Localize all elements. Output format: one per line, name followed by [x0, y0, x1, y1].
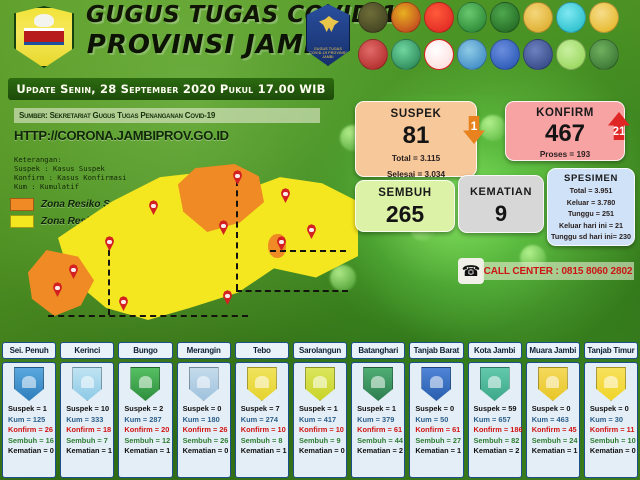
district-crest-icon [72, 367, 102, 401]
district-name: Kerinci [74, 346, 100, 355]
pengadilan-logo-icon [490, 2, 520, 33]
stat-card-suspek: SUSPEK 81 Total = 3.115 Selesai = 3.034 [355, 101, 477, 177]
district-kematian: Kematian = 1 [124, 446, 171, 457]
district-card-kota-jambi[interactable]: Kota Jambi Suspek = 59 Kum = 657 Konfirm… [466, 340, 524, 480]
district-stats: Suspek = 1 Kum = 125 Konfirm = 26 Sembuh… [3, 404, 55, 457]
district-stats: Suspek = 59 Kum = 657 Konfirm = 186 Semb… [469, 404, 521, 457]
kejaksaan-logo-icon [457, 2, 487, 33]
district-body: Suspek = 2 Kum = 287 Konfirm = 20 Sembuh… [118, 362, 172, 478]
district-name-badge: Sei. Penuh [2, 342, 56, 359]
jambi-province-map[interactable] [18, 150, 363, 345]
district-suspek: Suspek = 0 [590, 404, 637, 415]
partner-logos [358, 2, 638, 72]
district-stats: Suspek = 2 Kum = 287 Konfirm = 20 Sembuh… [119, 404, 171, 457]
district-stats: Suspek = 1 Kum = 379 Konfirm = 61 Sembuh… [352, 404, 404, 457]
district-sembuh: Sembuh = 10 [590, 436, 637, 447]
title-line-2: PROVINSI JAMBI [86, 30, 336, 60]
district-name-badge: Tanjab Barat [409, 342, 463, 359]
district-sembuh: Sembuh = 7 [66, 436, 113, 447]
infographic-root: GUGUS TUGAS COVID-19 PROVINSI JAMBI GUGU… [0, 0, 640, 480]
garuda-icon [319, 16, 339, 32]
perhubungan-logo-icon [523, 39, 553, 70]
district-konfirm: Konfirm = 186 [474, 425, 521, 436]
suspek-total: Total = 3.115 [356, 153, 476, 164]
farmasi-logo-icon [391, 39, 421, 70]
district-name-badge: Merangin [177, 342, 231, 359]
district-konfirm: Konfirm = 61 [415, 425, 462, 436]
kemenkes-logo-icon [556, 2, 586, 33]
sembuh-value: 265 [356, 203, 454, 226]
district-name-badge: Tebo [235, 342, 289, 359]
suspek-label: SUSPEK [356, 108, 476, 120]
source-line: Sumber: Sekretariat Gugus Tugas Penangan… [14, 108, 320, 123]
district-crest-icon [363, 367, 393, 401]
district-name-badge: Muara Jambi [526, 342, 580, 359]
konfirm-label: KONFIRM [506, 107, 624, 119]
header: GUGUS TUGAS COVID-19 PROVINSI JAMBI GUGU… [0, 0, 640, 72]
district-stats: Suspek = 1 Kum = 417 Konfirm = 10 Sembuh… [294, 404, 346, 457]
district-body: Suspek = 1 Kum = 379 Konfirm = 61 Sembuh… [351, 362, 405, 478]
bnpb-logo-icon [424, 2, 454, 33]
district-suspek: Suspek = 10 [66, 404, 113, 415]
district-kum: Kum = 274 [241, 415, 288, 426]
konfirm-proses: Proses = 193 [506, 149, 624, 160]
district-card-sarolangun[interactable]: Sarolangun Suspek = 1 Kum = 417 Konfirm … [291, 340, 349, 480]
district-crest-icon [247, 367, 277, 401]
update-banner: Update Senin, 28 September 2020 Pukul 17… [8, 78, 334, 100]
district-name: Bungo [133, 346, 157, 355]
district-body: Suspek = 1 Kum = 125 Konfirm = 26 Sembuh… [2, 362, 56, 478]
update-text: Update Senin, 28 September 2020 Pukul 17… [16, 82, 325, 96]
stat-card-kematian: KEMATIAN 9 [458, 175, 544, 233]
district-suspek: Suspek = 0 [415, 404, 462, 415]
jambi-province-crest-icon [14, 6, 74, 68]
district-crest-icon [305, 367, 335, 401]
district-cards-strip: Sei. Penuh Suspek = 1 Kum = 125 Konfirm … [0, 340, 640, 480]
bpjs-logo-icon [556, 39, 586, 70]
district-kematian: Kematian = 0 [590, 446, 637, 457]
konfirm-value: 467 [506, 122, 624, 146]
district-sembuh: Sembuh = 16 [8, 436, 55, 447]
bi-logo-icon [358, 39, 388, 70]
district-name: Sei. Penuh [10, 346, 49, 355]
district-crest-icon [421, 367, 451, 401]
district-suspek: Suspek = 7 [241, 404, 288, 415]
district-konfirm: Konfirm = 61 [357, 425, 404, 436]
district-kematian: Kematian = 0 [183, 446, 230, 457]
stat-card-konfirm: KONFIRM 467 Proses = 193 [505, 101, 625, 161]
district-crest-icon [538, 367, 568, 401]
district-suspek: Suspek = 1 [357, 404, 404, 415]
district-stats: Suspek = 0 Kum = 30 Konfirm = 11 Sembuh … [585, 404, 637, 457]
district-crest-icon [596, 367, 626, 401]
district-name: Merangin [187, 346, 221, 355]
kematian-value: 9 [459, 203, 543, 225]
stat-card-sembuh: SEMBUH 265 [355, 180, 455, 232]
district-kum: Kum = 657 [474, 415, 521, 426]
district-sembuh: Sembuh = 24 [532, 436, 579, 447]
website-url[interactable]: HTTP://CORONA.JAMBIPROV.GO.ID [14, 128, 229, 143]
district-kum: Kum = 417 [299, 415, 346, 426]
district-name-badge: Sarolangun [293, 342, 347, 359]
district-sembuh: Sembuh = 9 [299, 436, 346, 447]
district-suspek: Suspek = 59 [474, 404, 521, 415]
district-name-badge: Kota Jambi [468, 342, 522, 359]
district-name: Sarolangun [299, 346, 341, 355]
district-kematian: Kematian = 1 [532, 446, 579, 457]
spesimen-tunggu: Tunggu = 251 [548, 209, 634, 219]
district-body: Suspek = 10 Kum = 333 Konfirm = 18 Sembu… [60, 362, 114, 478]
district-body: Suspek = 0 Kum = 30 Konfirm = 11 Sembuh … [584, 362, 638, 478]
district-stats: Suspek = 0 Kum = 180 Konfirm = 26 Sembuh… [178, 404, 230, 457]
district-kum: Kum = 125 [8, 415, 55, 426]
stat-card-spesimen: SPESIMEN Total = 3.951 Keluar = 3.780 Tu… [547, 168, 635, 246]
district-kematian: Kematian = 1 [66, 446, 113, 457]
district-suspek: Suspek = 1 [8, 404, 55, 415]
tni-ad-logo-icon [391, 2, 421, 33]
district-konfirm: Konfirm = 11 [590, 425, 637, 436]
spesimen-label: SPESIMEN [548, 173, 634, 184]
district-sembuh: Sembuh = 27 [415, 436, 462, 447]
district-card-batanghari[interactable]: Batanghari Suspek = 1 Kum = 379 Konfirm … [349, 340, 407, 480]
suspek-delta-value: 1 [471, 119, 478, 133]
district-sembuh: Sembuh = 44 [357, 436, 404, 447]
district-stats: Suspek = 0 Kum = 463 Konfirm = 45 Sembuh… [527, 404, 579, 457]
district-kematian: Kematian = 0 [299, 446, 346, 457]
district-card-tanjab-barat[interactable]: Tanjab Barat Suspek = 0 Kum = 50 Konfirm… [407, 340, 465, 480]
district-kum: Kum = 463 [532, 415, 579, 426]
phone-icon: ☎ [458, 258, 484, 284]
district-crest-icon [189, 367, 219, 401]
district-kum: Kum = 50 [415, 415, 462, 426]
district-konfirm: Konfirm = 26 [183, 425, 230, 436]
district-name: Kota Jambi [474, 346, 515, 355]
district-card-tanjab-timur[interactable]: Tanjab Timur Suspek = 0 Kum = 30 Konfirm… [582, 340, 640, 480]
kematian-label: KEMATIAN [459, 186, 543, 198]
district-konfirm: Konfirm = 20 [124, 425, 171, 436]
district-konfirm: Konfirm = 45 [532, 425, 579, 436]
district-body: Suspek = 59 Kum = 657 Konfirm = 186 Semb… [468, 362, 522, 478]
district-suspek: Suspek = 2 [124, 404, 171, 415]
district-kum: Kum = 180 [183, 415, 230, 426]
district-suspek: Suspek = 1 [299, 404, 346, 415]
konfirm-delta-value: 21 [612, 124, 625, 138]
district-name: Batanghari [358, 346, 398, 355]
map-border-dash-h1 [236, 290, 348, 292]
district-crest-icon [14, 367, 44, 401]
map-border-dash-h3 [48, 315, 248, 317]
district-kematian: Kematian = 2 [357, 446, 404, 457]
kementan-logo-icon [589, 2, 619, 33]
district-kum: Kum = 333 [66, 415, 113, 426]
page-title: GUGUS TUGAS COVID-19 PROVINSI JAMBI [86, 2, 336, 60]
district-kematian: Kematian = 0 [8, 446, 55, 457]
district-stats: Suspek = 7 Kum = 274 Konfirm = 10 Sembuh… [236, 404, 288, 457]
district-kematian: Kematian = 1 [241, 446, 288, 457]
spesimen-keluar-hari-ini: Keluar hari ini = 21 [548, 221, 634, 231]
tni-au-logo-icon [523, 2, 553, 33]
district-kum: Kum = 30 [590, 415, 637, 426]
district-card-bungo[interactable]: Bungo Suspek = 2 Kum = 287 Konfirm = 20 … [116, 340, 174, 480]
district-sembuh: Sembuh = 82 [474, 436, 521, 447]
partner-logo-row-1 [358, 2, 638, 36]
district-konfirm: Konfirm = 10 [299, 425, 346, 436]
district-sembuh: Sembuh = 26 [183, 436, 230, 447]
district-suspek: Suspek = 0 [183, 404, 230, 415]
district-body: Suspek = 7 Kum = 274 Konfirm = 10 Sembuh… [235, 362, 289, 478]
district-kematian: Kematian = 1 [415, 446, 462, 457]
polri-logo-icon [358, 2, 388, 33]
district-name-badge: Bungo [118, 342, 172, 359]
call-center-banner[interactable]: CALL CENTER : 0815 8060 2802 [482, 262, 634, 280]
district-sembuh: Sembuh = 8 [241, 436, 288, 447]
sembuh-label: SEMBUH [356, 187, 454, 199]
district-kum: Kum = 379 [357, 415, 404, 426]
district-sembuh: Sembuh = 12 [124, 436, 171, 447]
district-konfirm: Konfirm = 10 [241, 425, 288, 436]
district-name-badge: Batanghari [351, 342, 405, 359]
source-text: Sumber: Sekretariat Gugus Tugas Penangan… [19, 111, 215, 120]
partner-logo-row-2 [358, 39, 638, 73]
district-crest-icon [480, 367, 510, 401]
district-konfirm: Konfirm = 26 [8, 425, 55, 436]
basarnas-logo-icon [589, 39, 619, 70]
spesimen-tunggu-sd-hari-ini: Tunggu sd hari ini= 230 [548, 232, 634, 242]
district-card-muara-jambi[interactable]: Muara Jambi Suspek = 0 Kum = 463 Konfirm… [524, 340, 582, 480]
kominfo-logo-icon [490, 39, 520, 70]
district-stats: Suspek = 0 Kum = 50 Konfirm = 61 Sembuh … [410, 404, 462, 457]
suspek-selesai: Selesai = 3.034 [356, 169, 476, 180]
district-name: Tebo [253, 346, 271, 355]
district-konfirm: Konfirm = 18 [66, 425, 113, 436]
district-name-badge: Kerinci [60, 342, 114, 359]
district-body: Suspek = 0 Kum = 50 Konfirm = 61 Sembuh … [409, 362, 463, 478]
district-kum: Kum = 287 [124, 415, 171, 426]
district-body: Suspek = 1 Kum = 417 Konfirm = 10 Sembuh… [293, 362, 347, 478]
district-card-sei-penuh[interactable]: Sei. Penuh Suspek = 1 Kum = 125 Konfirm … [0, 340, 58, 480]
call-center-text: CALL CENTER : 0815 8060 2802 [484, 266, 633, 277]
suspek-value: 81 [356, 124, 476, 148]
pmi-logo-icon [424, 39, 454, 70]
district-card-kerinci[interactable]: Kerinci Suspek = 10 Kum = 333 Konfirm = … [58, 340, 116, 480]
garuda-logo-icon [457, 39, 487, 70]
district-name: Muara Jambi [529, 346, 576, 355]
district-suspek: Suspek = 0 [532, 404, 579, 415]
title-line-1: GUGUS TUGAS COVID-19 [86, 2, 336, 28]
district-card-tebo[interactable]: Tebo Suspek = 7 Kum = 274 Konfirm = 10 S… [233, 340, 291, 480]
district-crest-icon [130, 367, 160, 401]
district-name: Tanjab Barat [414, 346, 459, 355]
district-kematian: Kematian = 2 [474, 446, 521, 457]
map-border-dash-v1 [236, 180, 238, 290]
district-stats: Suspek = 10 Kum = 333 Konfirm = 18 Sembu… [61, 404, 113, 457]
district-card-merangin[interactable]: Merangin Suspek = 0 Kum = 180 Konfirm = … [175, 340, 233, 480]
spesimen-total: Total = 3.951 [548, 186, 634, 196]
district-name-badge: Tanjab Timur [584, 342, 638, 359]
district-name: Tanjab Timur [587, 346, 634, 355]
district-body: Suspek = 0 Kum = 180 Konfirm = 26 Sembuh… [177, 362, 231, 478]
district-body: Suspek = 0 Kum = 463 Konfirm = 45 Sembuh… [526, 362, 580, 478]
spesimen-keluar: Keluar = 3.780 [548, 198, 634, 208]
map-border-dash-v2 [108, 240, 110, 315]
